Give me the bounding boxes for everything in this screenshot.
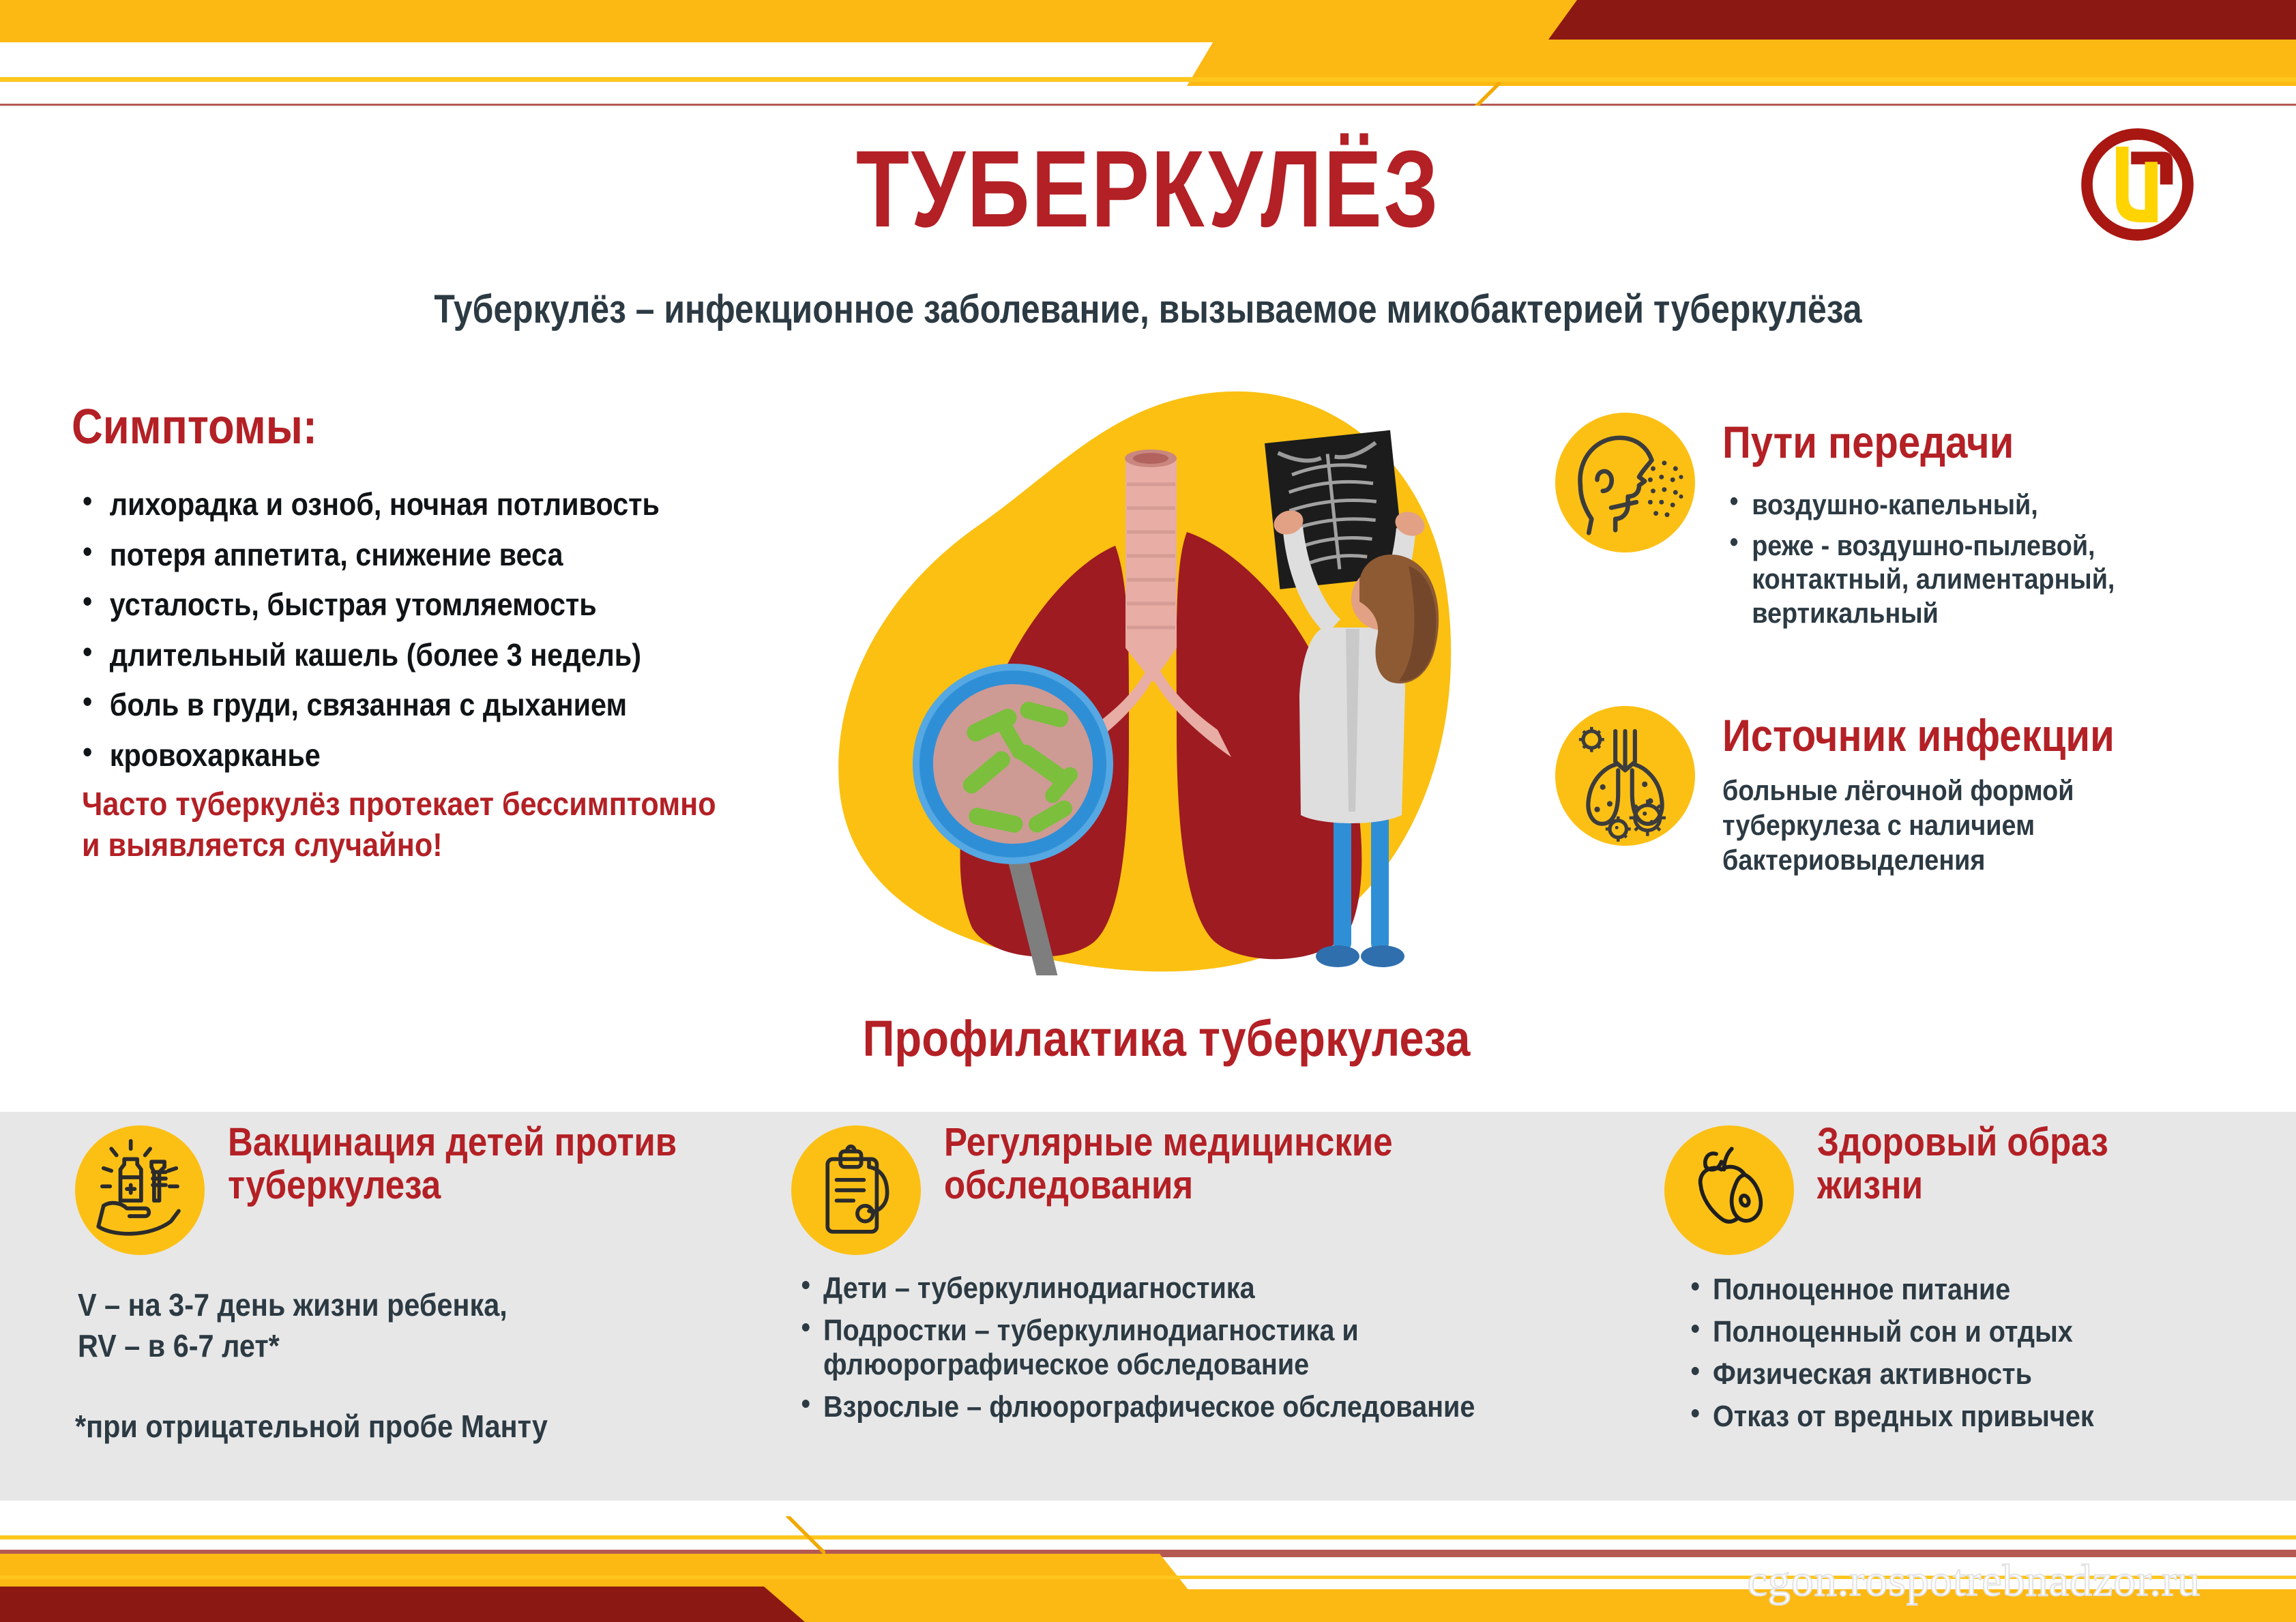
page-subtitle: Туберкулёз – инфекционное заболевание, в… bbox=[161, 286, 2136, 332]
source-body: Источник инфекции больные лёгочной формо… bbox=[1722, 706, 2258, 878]
transmission-list: воздушно-капельный, реже - воздушно-пыле… bbox=[1722, 488, 2258, 630]
banner-diagonal-accent bbox=[1460, 82, 1501, 106]
prevention-column-header: Регулярные медицинские обследования bbox=[791, 1112, 1623, 1255]
prevention-column-heading: Регулярные медицинские обследования bbox=[944, 1112, 1542, 1207]
symptoms-section: Симптомы: лихорадка и озноб, ночная потл… bbox=[72, 402, 808, 788]
vaccination-schedule-text: V – на 3-7 день жизни ребенка, RV – в 6-… bbox=[78, 1285, 695, 1367]
transmission-block: Пути передачи воздушно-капельный, реже -… bbox=[1555, 413, 2258, 636]
clipboard-stethoscope-icon bbox=[791, 1125, 921, 1255]
banner-thin-red-line bbox=[0, 104, 2296, 106]
prevention-column-lifestyle: Здоровый образ жизни Полноценное питание… bbox=[1664, 1112, 2278, 1443]
vaccination-note: *при отрицательной пробе Манту bbox=[75, 1406, 695, 1447]
infected-lungs-icon bbox=[1555, 706, 1695, 846]
apple-pear-icon bbox=[1664, 1125, 1794, 1255]
banner-dark-red-slab bbox=[0, 1587, 805, 1622]
top-decorative-banner bbox=[0, 0, 2296, 106]
list-item: усталость, быстрая утомляемость bbox=[72, 587, 735, 623]
prevention-panel: Вакцинация детей против туберкулеза V – … bbox=[0, 1112, 2296, 1501]
list-item: потеря аппетита, снижение веса bbox=[72, 537, 735, 573]
list-item: Отказ от вредных привычек bbox=[1682, 1400, 2219, 1434]
lungs-doctor-xray-illustration bbox=[795, 362, 1490, 975]
list-item: лихорадка и озноб, ночная потливость bbox=[72, 487, 735, 522]
prevention-column-heading: Здоровый образ жизни bbox=[1817, 1112, 2223, 1207]
checkups-list: Дети – туберкулинодиагностика Подростки … bbox=[793, 1271, 1623, 1425]
coughing-head-icon bbox=[1555, 413, 1695, 552]
prevention-column-header: Вакцинация детей против туберкулеза bbox=[75, 1112, 764, 1255]
source-text: больные лёгочной формой туберкулеза с на… bbox=[1722, 773, 2205, 878]
prevention-column-vaccination: Вакцинация детей против туберкулеза V – … bbox=[75, 1112, 764, 1447]
transmission-body: Пути передачи воздушно-капельный, реже -… bbox=[1722, 413, 2258, 636]
banner-dark-red-slab bbox=[1548, 0, 2296, 40]
list-item: воздушно-капельный, bbox=[1722, 488, 2205, 522]
list-item: Подростки – туберкулинодиагностика и флю… bbox=[793, 1314, 1540, 1382]
list-item: кровохарканье bbox=[72, 738, 735, 773]
banner-thin-yellow-line bbox=[0, 77, 2296, 82]
list-item: Взрослые – флюорографическое обследовани… bbox=[793, 1390, 1540, 1424]
page-title: ТУБЕРКУЛЁЗ bbox=[230, 126, 2067, 252]
transmission-heading: Пути передачи bbox=[1722, 419, 2194, 465]
list-item: Полноценный сон и отдых bbox=[1682, 1315, 2219, 1349]
list-item: Дети – туберкулинодиагностика bbox=[793, 1271, 1540, 1306]
vaccine-hand-icon bbox=[75, 1125, 205, 1255]
source-block: Источник инфекции больные лёгочной формо… bbox=[1555, 706, 2258, 878]
list-item: Физическая активность bbox=[1682, 1357, 2219, 1391]
banner-yellow-bar bbox=[0, 0, 1282, 42]
list-item: длительный кашель (более 3 недель) bbox=[72, 638, 735, 673]
prevention-column-header: Здоровый образ жизни bbox=[1664, 1112, 2278, 1255]
prevention-heading: Профилактика туберкулеза bbox=[806, 1009, 1527, 1067]
list-item: боль в груди, связанная с дыханием bbox=[72, 688, 735, 723]
list-item: реже - воздушно-пылевой, контактный, али… bbox=[1722, 529, 2205, 630]
prevention-column-heading: Вакцинация детей против туберкулеза bbox=[228, 1112, 700, 1207]
symptoms-heading: Симптомы: bbox=[72, 402, 720, 452]
list-item: Полноценное питание bbox=[1682, 1273, 2219, 1307]
lifestyle-list: Полноценное питание Полноценный сон и от… bbox=[1682, 1273, 2278, 1434]
banner-thin-yellow-line bbox=[0, 1535, 2296, 1539]
prevention-column-checkups: Регулярные медицинские обследования Дети… bbox=[791, 1112, 1623, 1433]
symptoms-list: лихорадка и озноб, ночная потливость пот… bbox=[72, 487, 808, 773]
cgon-logo bbox=[2074, 121, 2201, 248]
banner-diagonal-accent bbox=[784, 1516, 825, 1554]
source-heading: Источник инфекции bbox=[1722, 713, 2194, 758]
symptoms-warning-text: Часто туберкулёз протекает бессимптомно … bbox=[82, 784, 726, 867]
footer-url: cgon.rospotrebnadzor.ru bbox=[1748, 1555, 2201, 1607]
